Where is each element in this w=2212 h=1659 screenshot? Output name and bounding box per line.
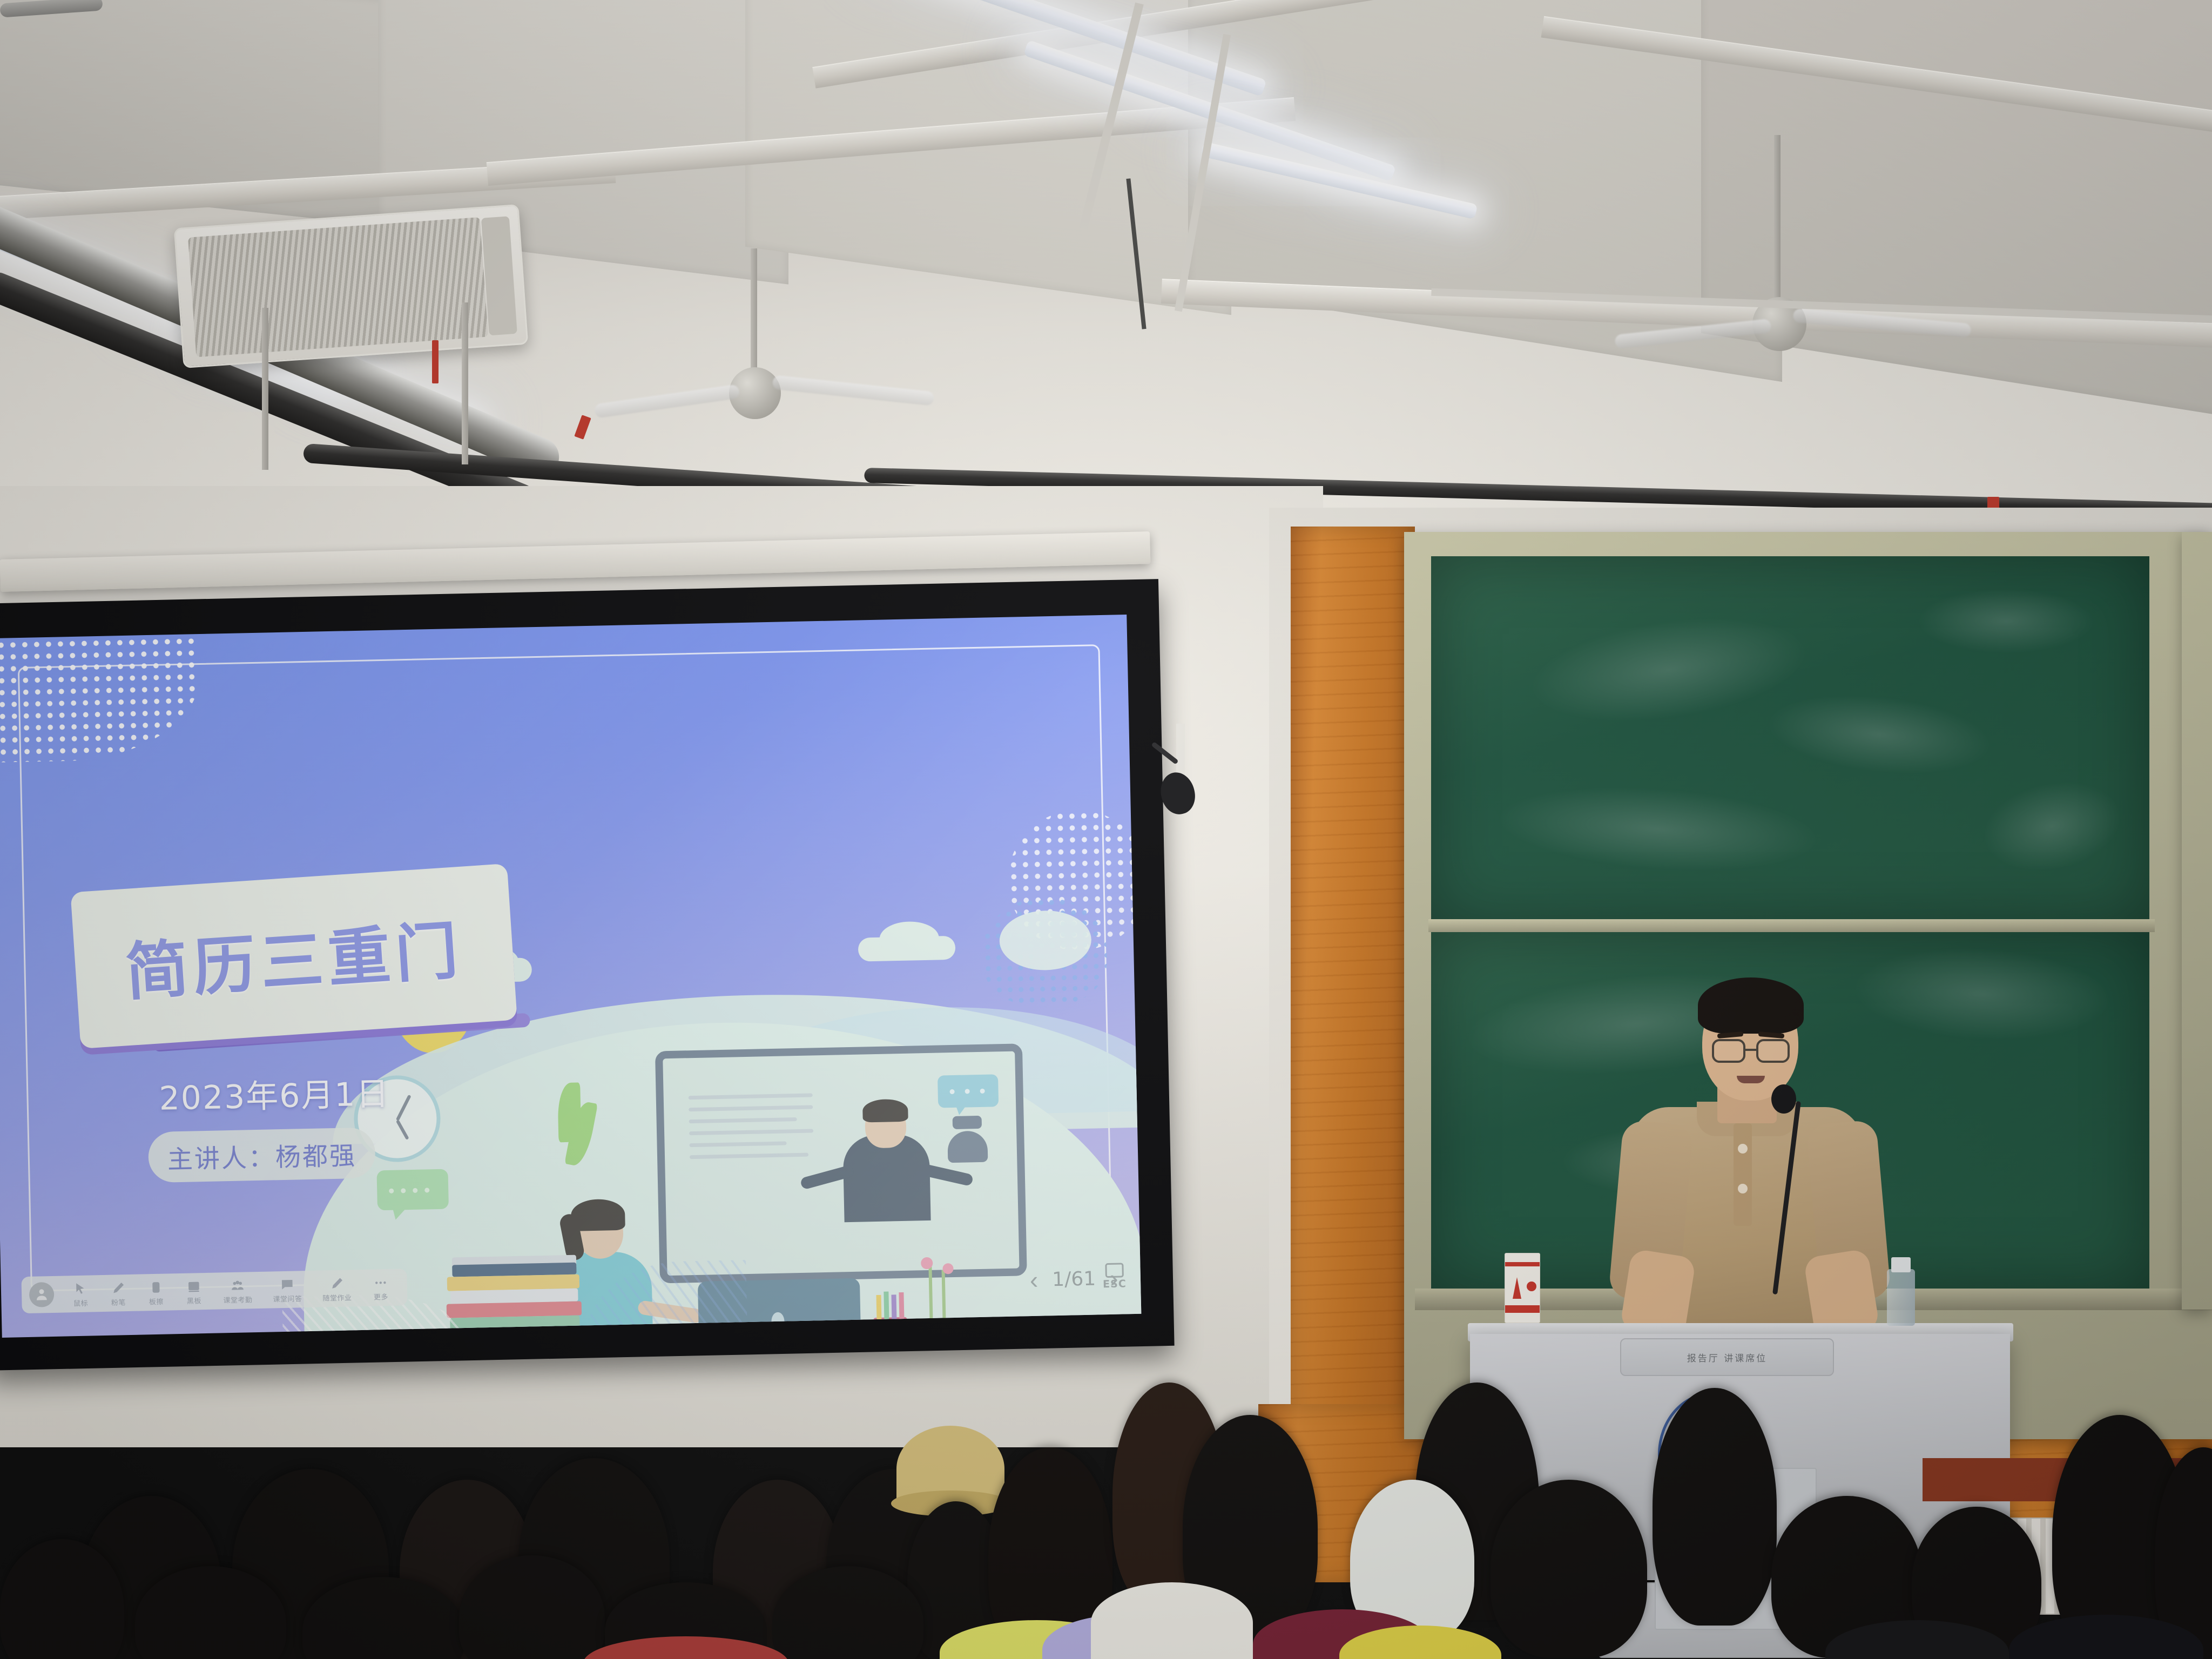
glasses-icon <box>1712 1039 1745 1063</box>
lecturer-hair <box>1698 977 1804 1034</box>
slide-presenter: 主讲人：杨都强 <box>167 1135 356 1176</box>
prev-slide-button[interactable]: ‹ <box>1029 1267 1038 1292</box>
attendance-icon <box>231 1277 245 1293</box>
glasses-icon <box>1756 1039 1790 1063</box>
monitor-illustration <box>655 1043 1027 1283</box>
presentation-slide[interactable]: 简历三重门 2023年6月1日 主讲人：杨都强 鼠标 粉笔 <box>0 615 1141 1338</box>
cursor-icon <box>73 1280 88 1297</box>
podium-nameplate: 报告厅 讲课席位 <box>1620 1338 1834 1376</box>
wood-wall-panel <box>1291 527 1415 1461</box>
toolbar-item-qa[interactable]: 课堂问答 <box>262 1275 313 1304</box>
ceiling-ac-unit <box>174 204 529 368</box>
toolbar-item-eraser[interactable]: 板擦 <box>137 1278 176 1306</box>
slide-title-card: 简历三重门 <box>70 864 517 1049</box>
chat-bubble-icon <box>938 1074 999 1108</box>
chat-bubble-icon <box>376 1169 449 1211</box>
more-icon <box>373 1273 388 1290</box>
toolbar-item-homework[interactable]: 随堂作业 <box>312 1274 362 1303</box>
podium-nameplate-text: 报告厅 讲课席位 <box>1687 1351 1767 1364</box>
monitor-icon <box>1105 1263 1124 1278</box>
slide-presenter-pill: 主讲人：杨都强 <box>148 1127 376 1183</box>
water-bottle <box>1887 1269 1915 1326</box>
slide-title: 简历三重门 <box>123 900 466 1013</box>
ceiling-fan-rod <box>751 248 757 378</box>
slide-date: 2023年6月1日 <box>159 1068 390 1120</box>
toolbar-item-more[interactable]: 更多 <box>361 1273 400 1302</box>
ceiling-fan-rod <box>1774 135 1781 308</box>
chalk-box <box>1505 1253 1540 1323</box>
microphone-icon <box>1771 1084 1796 1114</box>
toolbar-item-blackboard[interactable]: 黑板 <box>175 1277 213 1306</box>
slide-page-indicator: 1/61 <box>1052 1267 1096 1291</box>
chalk-icon <box>111 1279 126 1296</box>
homework-icon <box>329 1274 344 1291</box>
user-avatar[interactable] <box>29 1282 55 1307</box>
blackboard-icon <box>187 1277 201 1294</box>
eraser-icon <box>149 1278 164 1295</box>
ceiling <box>0 0 2212 545</box>
exit-fullscreen-button[interactable]: ESC <box>1102 1263 1127 1290</box>
chalkboard-upper <box>1431 556 2149 923</box>
qa-icon <box>280 1276 295 1292</box>
toolbar-item-chalk[interactable]: 粉笔 <box>99 1279 138 1307</box>
toolbar-item-attendance[interactable]: 课堂考勤 <box>213 1276 263 1305</box>
toolbar-item-cursor[interactable]: 鼠标 <box>62 1279 100 1308</box>
cloud-illustration <box>858 936 956 962</box>
lecture-hall-photo: 简历三重门 2023年6月1日 主讲人：杨都强 鼠标 粉笔 <box>0 0 2212 1659</box>
